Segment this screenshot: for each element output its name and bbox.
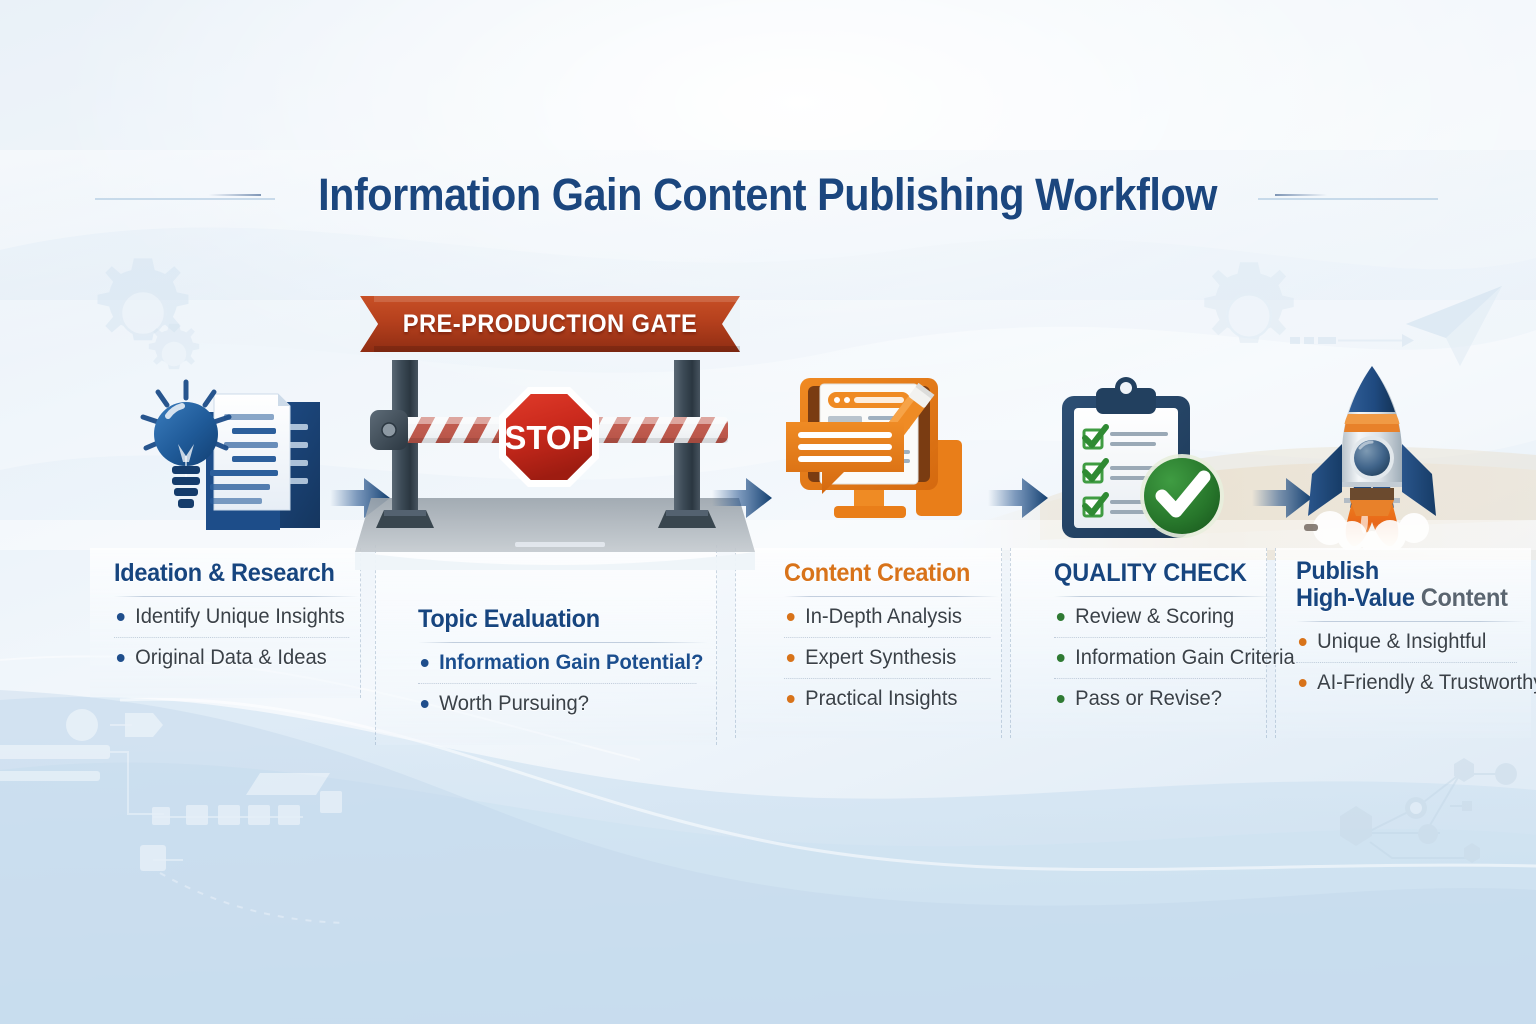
title-rule-right: [1275, 194, 1327, 196]
circuit-decoration-left: [0, 695, 350, 925]
list-item: Original Data & Ideas: [114, 637, 349, 678]
list-item: Expert Synthesis: [784, 637, 990, 678]
stage-topic-evaluation-bullets: Information Gain Potential? Worth Pursui…: [418, 643, 708, 724]
list-item: Identify Unique Insights: [114, 597, 349, 637]
stage-content-creation-bullets: In-Depth Analysis Expert Synthesis Pract…: [784, 597, 999, 719]
stage-publish-heading-line1: Publish: [1296, 557, 1379, 585]
stage-publish-heading-rest: Content: [1415, 584, 1508, 612]
list-item: Review & Scoring: [1054, 597, 1265, 637]
stage-publish-text: Publish High-Value Content Unique & Insi…: [1296, 558, 1526, 703]
page-title: Information Gain Content Publishing Work…: [319, 169, 1218, 221]
stage-quality-check-bullets: Review & Scoring Information Gain Criter…: [1054, 597, 1274, 719]
stop-sign-icon: STOP: [497, 385, 601, 489]
node-network-decoration: [1330, 730, 1536, 940]
pre-production-gate-banner: PRE-PRODUCTION GATE: [360, 296, 740, 352]
stage-ideation-bullets: Identify Unique Insights Original Data &…: [114, 597, 359, 678]
stage-publish-bullets: Unique & Insightful AI-Friendly & Trustw…: [1296, 622, 1526, 703]
title-rule-left: [209, 194, 261, 196]
clipboard-checkmark-icon: [1048, 374, 1248, 544]
stage-content-creation-heading: Content Creation: [784, 560, 986, 587]
stage-quality-check-heading: QUALITY CHECK: [1054, 560, 1261, 587]
arrow-creation-to-quality: [988, 474, 1050, 522]
stage-topic-evaluation-heading: Topic Evaluation: [418, 606, 691, 633]
gear-icon: [78, 248, 208, 378]
stop-sign-label: STOP: [504, 419, 593, 456]
list-item: Information Gain Criteria: [1054, 637, 1265, 678]
page-title-row: Information Gain Content Publishing Work…: [0, 160, 1536, 230]
stage-publish-heading-strong: High-Value: [1296, 584, 1415, 612]
stage-publish-heading: Publish High-Value Content: [1296, 558, 1512, 612]
list-item: Pass or Revise?: [1054, 678, 1265, 719]
stage-content-creation-text: Content Creation In-Depth Analysis Exper…: [784, 560, 999, 719]
pre-production-gate-label: PRE-PRODUCTION GATE: [370, 296, 731, 352]
lightbulb-documents-icon: [128, 372, 338, 537]
arrow-gate-to-creation: [712, 474, 774, 522]
stage-topic-evaluation-text: Topic Evaluation Information Gain Potent…: [418, 606, 708, 724]
rocket-launch-icon: [1294, 358, 1490, 550]
list-item: In-Depth Analysis: [784, 597, 990, 637]
infographic-canvas: Information Gain Content Publishing Work…: [0, 0, 1536, 1024]
stage-quality-check-text: QUALITY CHECK Review & Scoring Informati…: [1054, 560, 1274, 719]
list-item: AI-Friendly & Trustworthy: [1296, 662, 1517, 703]
monitor-pencil-document-icon: [778, 370, 978, 540]
list-item: Unique & Insightful: [1296, 622, 1517, 662]
list-item: Worth Pursuing?: [418, 683, 696, 724]
list-item: Practical Insights: [784, 678, 990, 719]
dashed-track-icon: [1290, 320, 1420, 360]
list-item: Information Gain Potential?: [418, 643, 696, 683]
stage-ideation-text: Ideation & Research Identify Unique Insi…: [114, 560, 359, 678]
stage-ideation-heading: Ideation & Research: [114, 560, 344, 587]
